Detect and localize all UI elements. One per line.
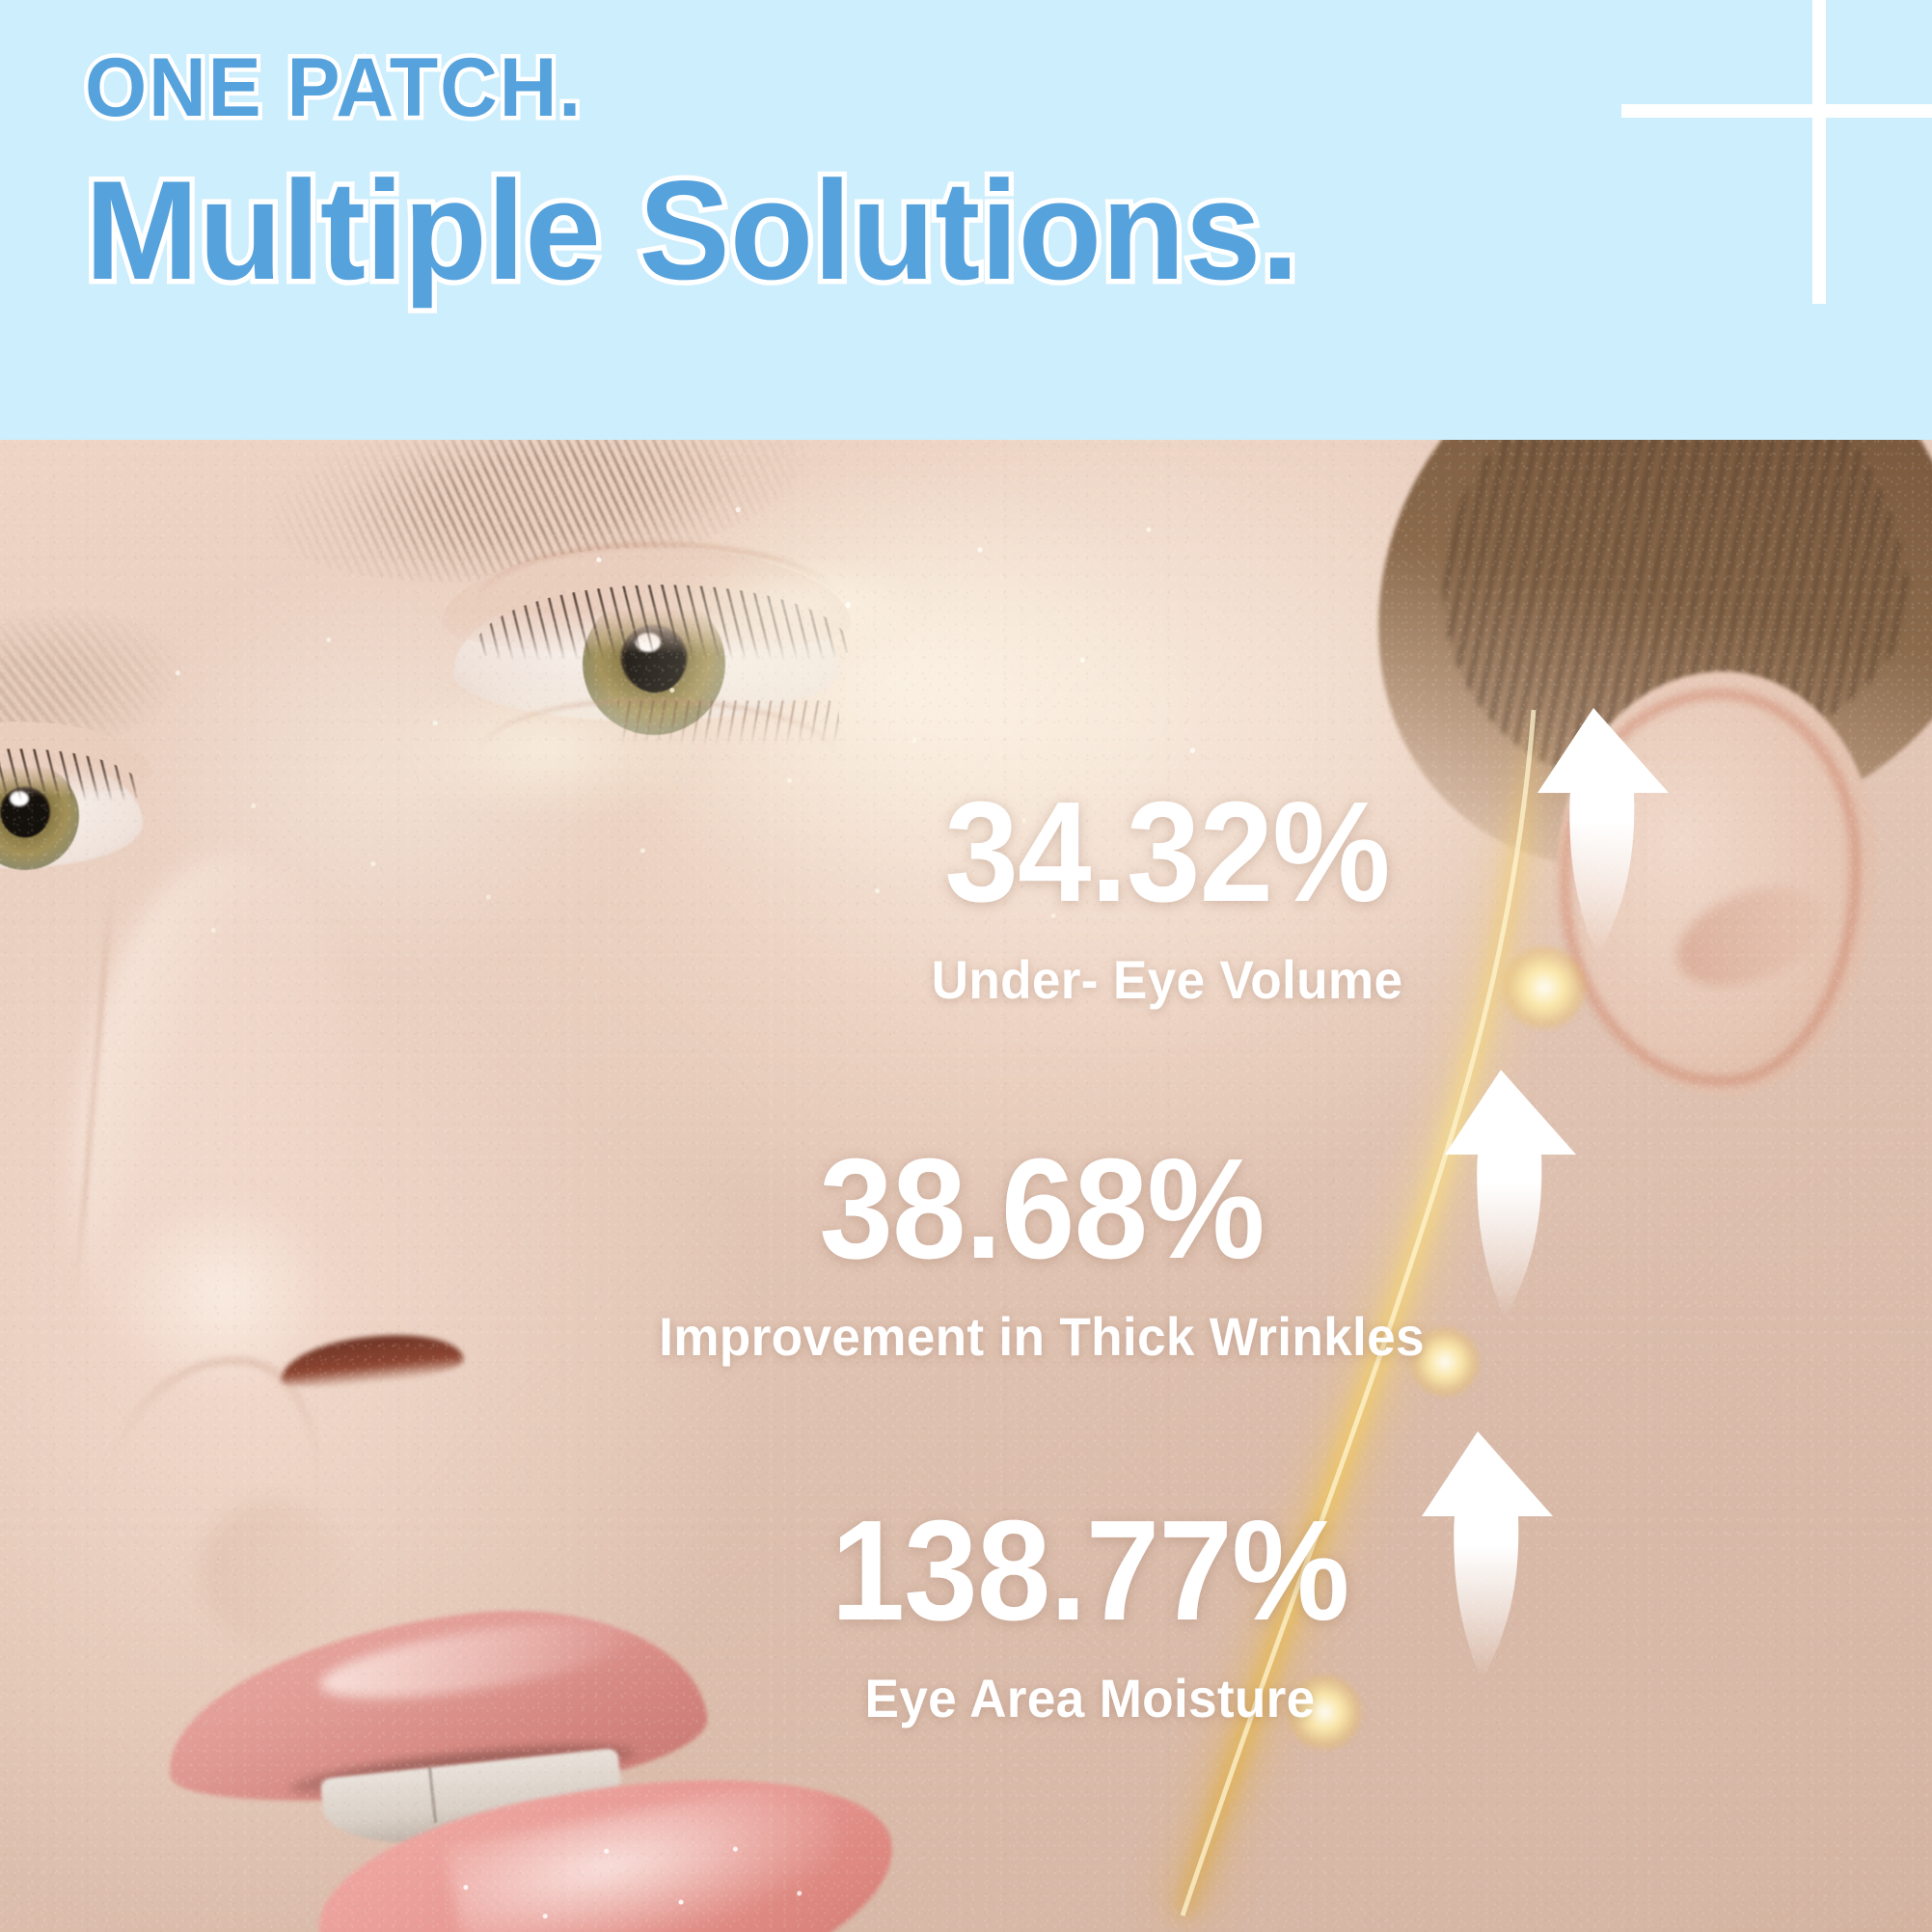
headline-line-2: Multiple Solutions. bbox=[85, 156, 1582, 304]
plus-cross-icon-vertical bbox=[1812, 0, 1826, 304]
model-face-photo bbox=[0, 440, 1932, 1932]
skin-texture-noise bbox=[0, 440, 1932, 1932]
skincare-ad-creative: 34.32% Under- Eye Volume 38.68% Improvem… bbox=[0, 0, 1932, 1932]
plus-cross-icon-horizontal bbox=[1621, 104, 1932, 118]
headline-block: ONE PATCH. Multiple Solutions. bbox=[85, 46, 1628, 304]
header-band: ONE PATCH. Multiple Solutions. bbox=[0, 0, 1932, 440]
headline-line-1: ONE PATCH. bbox=[85, 46, 1566, 129]
